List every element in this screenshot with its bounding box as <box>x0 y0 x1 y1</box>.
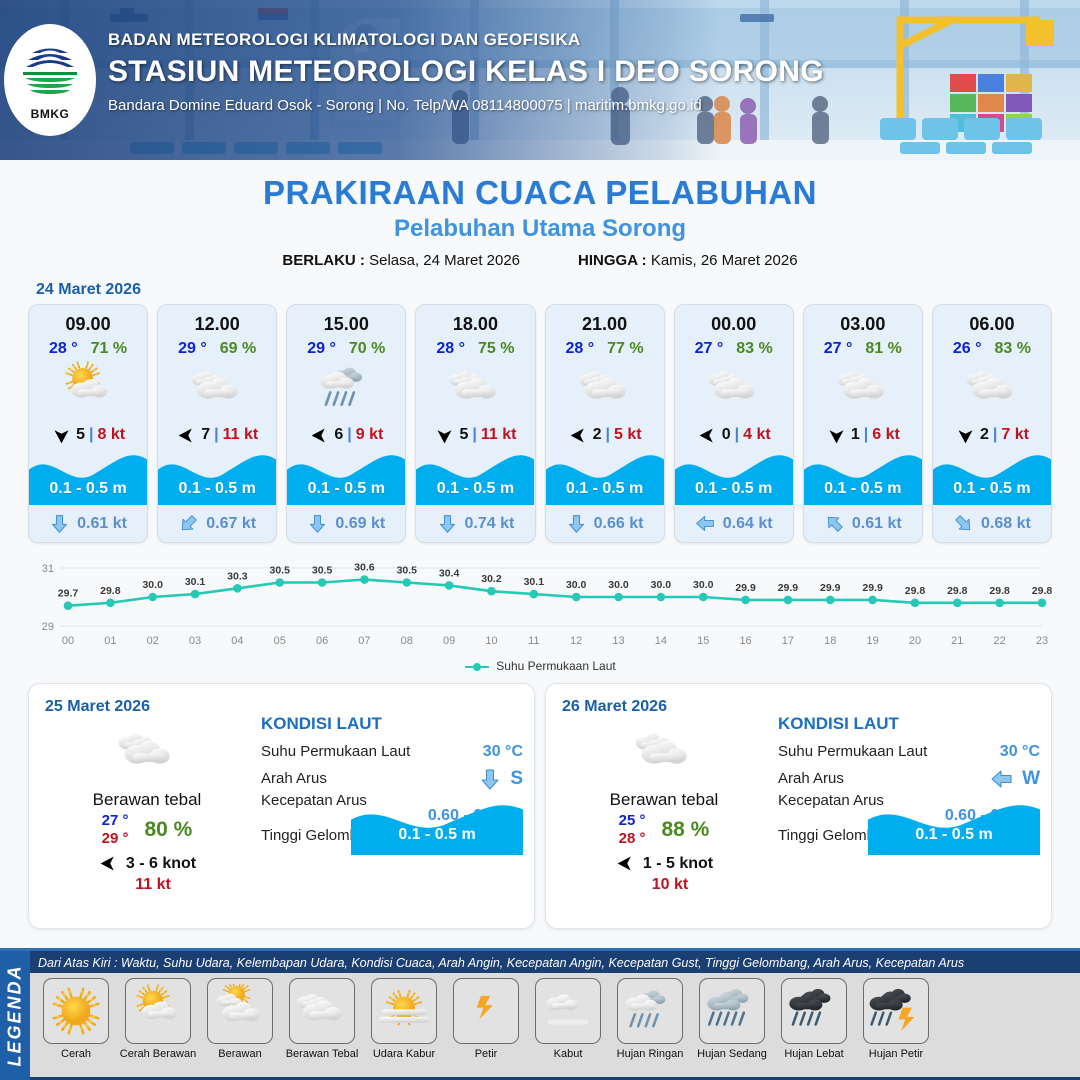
svg-text:30.0: 30.0 <box>651 579 672 591</box>
day-wind-row: 1 - 5 knot <box>564 853 764 874</box>
header-text-block: BADAN METEOROLOGI KLIMATOLOGI DAN GEOFIS… <box>108 30 824 114</box>
day-humidity: 80 % <box>144 818 192 842</box>
current-direction-arrow-down <box>478 767 502 791</box>
card-current-speed: 0.67 kt <box>206 515 256 533</box>
agency-name: BADAN METEOROLOGI KLIMATOLOGI DAN GEOFIS… <box>108 30 824 50</box>
weather-icon-berawan-tebal <box>633 722 695 784</box>
svg-text:30.1: 30.1 <box>185 576 206 588</box>
card-time: 12.00 <box>158 305 276 335</box>
hingga-group: HINGGA : Kamis, 26 Maret 2026 <box>578 252 798 269</box>
wind-direction-arrow-down <box>434 425 455 446</box>
svg-text:13: 13 <box>612 635 624 647</box>
card-wind-row: 2 | 7 kt <box>933 420 1051 450</box>
daily-forecast-panel[interactable]: 25 Maret 2026 Berawan tebal <box>28 683 535 929</box>
current-direction-arrow-down <box>307 513 328 534</box>
day-humidity: 88 % <box>661 818 709 842</box>
card-wind-direction: 6 <box>334 426 343 444</box>
current-direction-value: S <box>478 767 523 791</box>
day-temp-min: 25 ° <box>619 812 646 830</box>
svg-text:30.3: 30.3 <box>227 570 248 582</box>
legend-item: Petir <box>448 978 524 1077</box>
legend-note: Dari Atas Kiri : Waktu, Suhu Udara, Kele… <box>30 951 1080 970</box>
card-temp-hum: 29 ° 69 % <box>158 340 276 358</box>
weather-icon-berawan <box>213 984 267 1038</box>
day-wind-range: 1 - 5 knot <box>643 855 713 873</box>
card-wind-row: 0 | 4 kt <box>675 420 793 450</box>
svg-text:19: 19 <box>866 635 878 647</box>
card-weather-icon <box>546 360 664 418</box>
card-temperature: 29 ° <box>307 340 336 358</box>
forecast-card[interactable]: 12.00 29 ° 69 % <box>157 304 277 543</box>
card-wave: 0.1 - 0.5 m <box>287 448 405 505</box>
card-temp-hum: 26 ° 83 % <box>933 340 1051 358</box>
day-left-block: Berawan tebal 25 ° 28 ° 88 % 1 - 5 knot … <box>564 722 764 894</box>
legend-icon-box <box>453 978 519 1044</box>
card-temperature: 27 ° <box>824 340 853 358</box>
card-wind-direction: 1 <box>851 426 860 444</box>
svg-text:18: 18 <box>824 635 836 647</box>
forecast-card[interactable]: 18.00 28 ° 75 % <box>415 304 535 543</box>
current-direction-arrow-left <box>990 767 1014 791</box>
card-wind-separator: | <box>347 426 351 444</box>
weather-icon-kabut <box>541 984 595 1038</box>
card-weather-icon <box>158 360 276 418</box>
day-temp-column: 27 ° 29 ° <box>102 812 129 847</box>
legend-icon-box <box>125 978 191 1044</box>
svg-text:30.0: 30.0 <box>566 579 587 591</box>
card-current-speed: 0.66 kt <box>594 515 644 533</box>
card-wave: 0.1 - 0.5 m <box>675 448 793 505</box>
card-wind-separator: | <box>993 426 997 444</box>
day-condition: Berawan tebal <box>564 790 764 810</box>
card-wind-direction: 2 <box>980 426 989 444</box>
weather-icon-petir <box>459 984 513 1038</box>
svg-text:00: 00 <box>62 635 74 647</box>
page-subtitle: Pelabuhan Utama Sorong <box>0 215 1080 243</box>
legend-item: Hujan Lebat <box>776 978 852 1077</box>
card-wind-separator: | <box>89 426 93 444</box>
forecast-card[interactable]: 15.00 29 ° 70 % 6 <box>286 304 406 543</box>
legend-icon-box <box>289 978 355 1044</box>
card-wind-row: 1 | 6 kt <box>804 420 922 450</box>
card-wind-separator: | <box>735 426 739 444</box>
svg-text:17: 17 <box>782 635 794 647</box>
legend-item-label: Berawan <box>218 1048 261 1060</box>
day-temp-max: 28 ° <box>619 830 646 848</box>
forecast-date-label: 24 Maret 2026 <box>36 281 1080 299</box>
sea-condition-title: KONDISI LAUT <box>261 714 523 734</box>
legend-item: Berawan <box>202 978 278 1077</box>
daily-forecast-panel[interactable]: 26 Maret 2026 Berawan tebal <box>545 683 1052 929</box>
card-wave: 0.1 - 0.5 m <box>29 448 147 505</box>
wind-direction-arrow-down <box>51 425 72 446</box>
current-direction-value: W <box>990 767 1040 791</box>
current-direction-arrow-up-left <box>824 513 845 534</box>
weather-icon-cerah-berawan <box>131 984 185 1038</box>
card-wind-direction: 2 <box>593 426 602 444</box>
wind-direction-arrow-left <box>98 853 119 874</box>
legend-item: Kabut <box>530 978 606 1077</box>
legend-item: Berawan Tebal <box>284 978 360 1077</box>
weather-icon-berawan-tebal <box>964 361 1020 417</box>
berlaku-label: BERLAKU : <box>282 252 365 269</box>
legend-item-label: Cerah Berawan <box>120 1048 196 1060</box>
day-temp-hum: 27 ° 29 ° 80 % <box>47 812 247 847</box>
weather-icon-hujan-ringan <box>318 361 374 417</box>
card-temperature: 28 ° <box>49 340 78 358</box>
wind-direction-arrow-left <box>697 425 718 446</box>
card-temp-hum: 27 ° 83 % <box>675 340 793 358</box>
forecast-card-row: 09.00 28 ° 71 % 5 | 8 kt <box>0 304 1080 543</box>
card-time: 00.00 <box>675 305 793 335</box>
card-temp-hum: 27 ° 81 % <box>804 340 922 358</box>
card-wave-height: 0.1 - 0.5 m <box>29 480 147 498</box>
svg-text:30.5: 30.5 <box>270 565 291 577</box>
card-wind-direction: 0 <box>722 426 731 444</box>
day-weather-icon <box>47 722 247 784</box>
day-wave-height: 0.1 - 0.5 m <box>868 826 1040 844</box>
svg-text:30.5: 30.5 <box>397 565 418 577</box>
legend-item-label: Petir <box>475 1048 498 1060</box>
card-wind-separator: | <box>605 426 609 444</box>
svg-text:05: 05 <box>274 635 286 647</box>
legend-item-label: Hujan Petir <box>869 1048 923 1060</box>
card-current-speed: 0.64 kt <box>723 515 773 533</box>
svg-text:30.4: 30.4 <box>439 567 460 579</box>
legend-side-label: LEGENDA <box>0 951 30 1080</box>
wind-direction-arrow-left <box>309 425 330 446</box>
card-temp-hum: 28 ° 75 % <box>416 340 534 358</box>
validity-range: BERLAKU : Selasa, 24 Maret 2026 HINGGA :… <box>0 252 1080 269</box>
current-direction-arrow-down-right <box>953 513 974 534</box>
svg-text:16: 16 <box>739 635 751 647</box>
day-left-block: Berawan tebal 27 ° 29 ° 80 % 3 - 6 knot … <box>47 722 247 894</box>
bmkg-logo-icon <box>19 40 81 106</box>
card-humidity: 83 % <box>995 340 1031 358</box>
legend-icon-box <box>43 978 109 1044</box>
card-wind-separator: | <box>214 426 218 444</box>
current-direction-letter: W <box>1022 768 1040 790</box>
legend-item: Cerah Berawan <box>120 978 196 1077</box>
page-header: BMKG BADAN METEOROLOGI KLIMATOLOGI DAN G… <box>0 0 1080 160</box>
current-direction-row: Arah Arus S <box>261 765 523 792</box>
card-wind-row: 6 | 9 kt <box>287 420 405 450</box>
svg-text:30.0: 30.0 <box>693 579 714 591</box>
card-wave: 0.1 - 0.5 m <box>933 448 1051 505</box>
sst-value: 30 °C <box>483 743 523 761</box>
sst-row: Suhu Permukaan Laut 30 °C <box>778 738 1040 765</box>
svg-text:30.5: 30.5 <box>312 565 333 577</box>
wind-direction-arrow-left <box>176 425 197 446</box>
weather-icon-berawan-tebal <box>577 361 633 417</box>
card-wave-height: 0.1 - 0.5 m <box>416 480 534 498</box>
weather-icon-berawan-tebal <box>295 984 349 1038</box>
card-current-speed: 0.61 kt <box>77 515 127 533</box>
card-wind-speed: 4 kt <box>743 426 771 444</box>
svg-text:14: 14 <box>655 635 667 647</box>
card-wind-direction: 7 <box>201 426 210 444</box>
card-wind-speed: 7 kt <box>1001 426 1029 444</box>
day-temp-hum: 25 ° 28 ° 88 % <box>564 812 764 847</box>
daily-forecast-row: 25 Maret 2026 Berawan tebal <box>0 673 1080 929</box>
card-current-row: 0.74 kt <box>416 505 534 542</box>
day-gust: 11 kt <box>59 876 247 894</box>
weather-icon-hujan-sedang <box>705 984 759 1038</box>
legend-icon-box <box>863 978 929 1044</box>
card-humidity: 83 % <box>736 340 772 358</box>
svg-text:29.8: 29.8 <box>989 585 1010 597</box>
berlaku-group: BERLAKU : Selasa, 24 Maret 2026 <box>282 252 520 269</box>
wind-direction-arrow-left <box>615 853 636 874</box>
legend-icon-row: Cerah Cerah Berawan <box>30 973 1080 1077</box>
day-sea-block: KONDISI LAUT Suhu Permukaan Laut 30 °C A… <box>261 714 523 844</box>
svg-text:29.9: 29.9 <box>862 582 883 594</box>
card-temperature: 27 ° <box>695 340 724 358</box>
legend-icon-box <box>781 978 847 1044</box>
day-wind-range: 3 - 6 knot <box>126 855 196 873</box>
sst-row: Suhu Permukaan Laut 30 °C <box>261 738 523 765</box>
svg-text:30.6: 30.6 <box>354 562 375 574</box>
forecast-card[interactable]: 21.00 28 ° 77 % <box>545 304 665 543</box>
svg-text:22: 22 <box>994 635 1006 647</box>
legend-side-text: LEGENDA <box>5 964 26 1066</box>
current-direction-arrow-down <box>437 513 458 534</box>
card-time: 09.00 <box>29 305 147 335</box>
bmkg-logo-text: BMKG <box>31 107 70 121</box>
card-weather-icon <box>29 360 147 418</box>
card-time: 21.00 <box>546 305 664 335</box>
day-condition: Berawan tebal <box>47 790 247 810</box>
day-wind-row: 3 - 6 knot <box>47 853 247 874</box>
card-weather-icon <box>675 360 793 418</box>
svg-text:29.8: 29.8 <box>947 585 968 597</box>
svg-text:21: 21 <box>951 635 963 647</box>
card-wind-direction: 5 <box>459 426 468 444</box>
card-wave-height: 0.1 - 0.5 m <box>546 480 664 498</box>
svg-text:29.9: 29.9 <box>735 582 756 594</box>
page-title: PRAKIRAAN CUACA PELABUHAN <box>0 174 1080 212</box>
sea-condition-title: KONDISI LAUT <box>778 714 1040 734</box>
svg-text:30.1: 30.1 <box>524 576 545 588</box>
sst-label: Suhu Permukaan Laut <box>261 743 410 760</box>
day-wave-graphic: 0.1 - 0.5 m <box>868 798 1040 852</box>
current-direction-letter: S <box>510 768 523 790</box>
card-wind-direction: 5 <box>76 426 85 444</box>
wind-direction-arrow-down <box>826 425 847 446</box>
weather-icon-berawan-tebal <box>116 722 178 784</box>
svg-text:01: 01 <box>104 635 116 647</box>
weather-icon-udara-kabur <box>377 984 431 1038</box>
weather-icon-berawan-tebal <box>835 361 891 417</box>
card-wind-speed: 11 kt <box>481 426 517 444</box>
card-temp-hum: 28 ° 71 % <box>29 340 147 358</box>
card-wind-speed: 6 kt <box>872 426 900 444</box>
card-current-row: 0.68 kt <box>933 505 1051 542</box>
card-humidity: 70 % <box>349 340 385 358</box>
legend-item-label: Udara Kabur <box>373 1048 435 1060</box>
legend-item-label: Kabut <box>554 1048 583 1060</box>
day-weather-icon <box>564 722 764 784</box>
chart-legend: Suhu Permukaan Laut <box>0 659 1080 673</box>
day-wave-graphic: 0.1 - 0.5 m <box>351 798 523 852</box>
svg-text:31: 31 <box>42 563 54 575</box>
svg-text:12: 12 <box>570 635 582 647</box>
legend-icon-box <box>699 978 765 1044</box>
legend-item-label: Cerah <box>61 1048 91 1060</box>
svg-text:29.8: 29.8 <box>1032 585 1052 597</box>
card-current-speed: 0.68 kt <box>981 515 1031 533</box>
legend-item-label: Hujan Ringan <box>617 1048 684 1060</box>
card-wave-height: 0.1 - 0.5 m <box>158 480 276 498</box>
card-wind-speed: 11 kt <box>223 426 259 444</box>
card-weather-icon <box>804 360 922 418</box>
card-time: 15.00 <box>287 305 405 335</box>
weather-icon-hujan-lebat <box>787 984 841 1038</box>
svg-text:03: 03 <box>189 635 201 647</box>
card-wind-separator: | <box>472 426 476 444</box>
sst-chart-svg: 293129.70029.80130.00230.10330.30430.505… <box>28 554 1052 658</box>
card-wind-row: 2 | 5 kt <box>546 420 664 450</box>
card-wave-height: 0.1 - 0.5 m <box>933 480 1051 498</box>
svg-text:08: 08 <box>401 635 413 647</box>
svg-text:07: 07 <box>358 635 370 647</box>
svg-text:23: 23 <box>1036 635 1048 647</box>
weather-icon-berawan-tebal <box>706 361 762 417</box>
hingga-label: HINGGA : <box>578 252 647 269</box>
day-temp-column: 25 ° 28 ° <box>619 812 646 847</box>
chart-legend-label: Suhu Permukaan Laut <box>496 659 615 673</box>
current-direction-label: Arah Arus <box>261 770 327 787</box>
card-time: 18.00 <box>416 305 534 335</box>
berlaku-value: Selasa, 24 Maret 2026 <box>369 252 520 269</box>
day-wave-height: 0.1 - 0.5 m <box>351 826 523 844</box>
svg-text:09: 09 <box>443 635 455 647</box>
legend-item: Cerah <box>38 978 114 1077</box>
card-temp-hum: 28 ° 77 % <box>546 340 664 358</box>
day-temp-min: 27 ° <box>102 812 129 830</box>
weather-icon-cerah <box>49 984 103 1038</box>
card-current-row: 0.61 kt <box>29 505 147 542</box>
card-current-speed: 0.74 kt <box>465 515 515 533</box>
card-humidity: 71 % <box>91 340 127 358</box>
card-current-speed: 0.61 kt <box>852 515 902 533</box>
current-direction-label: Arah Arus <box>778 770 844 787</box>
svg-text:29: 29 <box>42 621 54 633</box>
card-weather-icon <box>933 360 1051 418</box>
forecast-card[interactable]: 00.00 27 ° 83 % <box>674 304 794 543</box>
legend-icon-box <box>207 978 273 1044</box>
card-current-speed: 0.69 kt <box>335 515 385 533</box>
card-humidity: 77 % <box>607 340 643 358</box>
card-current-row: 0.61 kt <box>804 505 922 542</box>
svg-text:29.9: 29.9 <box>820 582 841 594</box>
card-wind-speed: 5 kt <box>614 426 642 444</box>
current-direction-row: Arah Arus W <box>778 765 1040 792</box>
forecast-card[interactable]: 06.00 26 ° 83 % <box>932 304 1052 543</box>
forecast-card[interactable]: 03.00 27 ° 81 % <box>803 304 923 543</box>
current-direction-arrow-down <box>49 513 70 534</box>
weather-icon-berawan-tebal <box>447 361 503 417</box>
legend-item-label: Berawan Tebal <box>286 1048 359 1060</box>
svg-text:29.9: 29.9 <box>778 582 799 594</box>
svg-text:29.8: 29.8 <box>100 585 121 597</box>
station-name: STASIUN METEOROLOGI KELAS I DEO SORONG <box>108 55 824 89</box>
current-direction-arrow-left <box>695 513 716 534</box>
legend-icon-box <box>535 978 601 1044</box>
day-temp-max: 29 ° <box>102 830 129 848</box>
card-wave: 0.1 - 0.5 m <box>416 448 534 505</box>
svg-text:02: 02 <box>147 635 159 647</box>
card-wave: 0.1 - 0.5 m <box>158 448 276 505</box>
card-wind-separator: | <box>864 426 868 444</box>
day-gust: 10 kt <box>576 876 764 894</box>
wind-direction-arrow-down <box>955 425 976 446</box>
weather-icon-cerah-berawan <box>60 361 116 417</box>
card-humidity: 69 % <box>220 340 256 358</box>
current-direction-arrow-down <box>566 513 587 534</box>
card-wind-row: 5 | 11 kt <box>416 420 534 450</box>
card-weather-icon <box>416 360 534 418</box>
card-temperature: 28 ° <box>566 340 595 358</box>
svg-text:30.0: 30.0 <box>608 579 629 591</box>
weather-icon-hujan-ringan <box>623 984 677 1038</box>
weather-icon-hujan-petir <box>869 984 923 1038</box>
day-sea-block: KONDISI LAUT Suhu Permukaan Laut 30 °C A… <box>778 714 1040 844</box>
sst-label: Suhu Permukaan Laut <box>778 743 927 760</box>
card-current-row: 0.67 kt <box>158 505 276 542</box>
svg-text:30.0: 30.0 <box>142 579 163 591</box>
svg-text:11: 11 <box>528 635 539 647</box>
card-wave-height: 0.1 - 0.5 m <box>287 480 405 498</box>
sst-value: 30 °C <box>1000 743 1040 761</box>
svg-text:06: 06 <box>316 635 328 647</box>
legend-item-label: Hujan Sedang <box>697 1048 767 1060</box>
card-time: 03.00 <box>804 305 922 335</box>
svg-text:04: 04 <box>231 635 243 647</box>
card-wind-row: 5 | 8 kt <box>29 420 147 450</box>
svg-text:29.7: 29.7 <box>58 588 79 600</box>
card-wind-speed: 8 kt <box>97 426 125 444</box>
card-temperature: 26 ° <box>953 340 982 358</box>
legend-content: Dari Atas Kiri : Waktu, Suhu Udara, Kele… <box>30 951 1080 1080</box>
legend-item-label: Hujan Lebat <box>784 1048 843 1060</box>
forecast-card[interactable]: 09.00 28 ° 71 % 5 | 8 kt <box>28 304 148 543</box>
svg-text:20: 20 <box>909 635 921 647</box>
legend-item: Hujan Ringan <box>612 978 688 1077</box>
legend-item: Hujan Sedang <box>694 978 770 1077</box>
card-humidity: 81 % <box>865 340 901 358</box>
hingga-value: Kamis, 26 Maret 2026 <box>651 252 798 269</box>
svg-text:15: 15 <box>697 635 709 647</box>
legend-item: Hujan Petir <box>858 978 934 1077</box>
legend-icon-box <box>617 978 683 1044</box>
wind-direction-arrow-left <box>568 425 589 446</box>
svg-text:29.8: 29.8 <box>905 585 926 597</box>
card-wave-height: 0.1 - 0.5 m <box>675 480 793 498</box>
card-wind-speed: 9 kt <box>356 426 384 444</box>
card-current-row: 0.66 kt <box>546 505 664 542</box>
title-block: PRAKIRAAN CUACA PELABUHAN Pelabuhan Utam… <box>0 174 1080 269</box>
legend-item: Udara Kabur <box>366 978 442 1077</box>
legend-bar: LEGENDA Dari Atas Kiri : Waktu, Suhu Uda… <box>0 948 1080 1080</box>
card-temperature: 29 ° <box>178 340 207 358</box>
card-humidity: 75 % <box>478 340 514 358</box>
card-wave-height: 0.1 - 0.5 m <box>804 480 922 498</box>
legend-icon-box <box>371 978 437 1044</box>
sst-chart: 293129.70029.80130.00230.10330.30430.505… <box>28 554 1052 658</box>
weather-icon-berawan-tebal <box>189 361 245 417</box>
card-current-row: 0.64 kt <box>675 505 793 542</box>
